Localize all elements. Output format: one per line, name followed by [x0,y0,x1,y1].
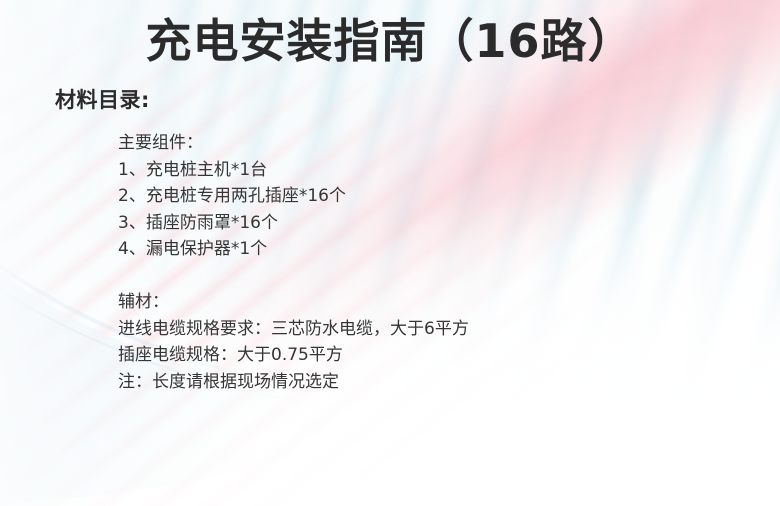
main-components-block: 主要组件： 1、充电桩主机*1台 2、充电桩专用两孔插座*16个 3、插座防雨罩… [118,130,346,263]
main-components-label: 主要组件： [118,130,346,157]
section-heading-material-catalog: 材料目录: [55,84,150,114]
main-components-item-2: 2、充电桩专用两孔插座*16个 [118,183,346,210]
aux-materials-block: 辅材： 进线电缆规格要求：三芯防水电缆，大于6平方 插座电缆规格：大于0.75平… [118,289,469,395]
slide-title: 充电安装指南（16路） [0,14,780,68]
aux-materials-line-socket-cable: 插座电缆规格：大于0.75平方 [118,342,469,369]
aux-materials-line-note: 注：长度请根据现场情况选定 [118,369,469,396]
presentation-slide: 充电安装指南（16路） 材料目录: 主要组件： 1、充电桩主机*1台 2、充电桩… [0,0,780,506]
main-components-item-3: 3、插座防雨罩*16个 [118,210,346,237]
main-components-item-1: 1、充电桩主机*1台 [118,157,346,184]
main-components-item-4: 4、漏电保护器*1个 [118,236,346,263]
slide-content: 充电安装指南（16路） 材料目录: 主要组件： 1、充电桩主机*1台 2、充电桩… [0,0,780,506]
aux-materials-line-incoming-cable: 进线电缆规格要求：三芯防水电缆，大于6平方 [118,316,469,343]
aux-materials-label: 辅材： [118,289,469,316]
